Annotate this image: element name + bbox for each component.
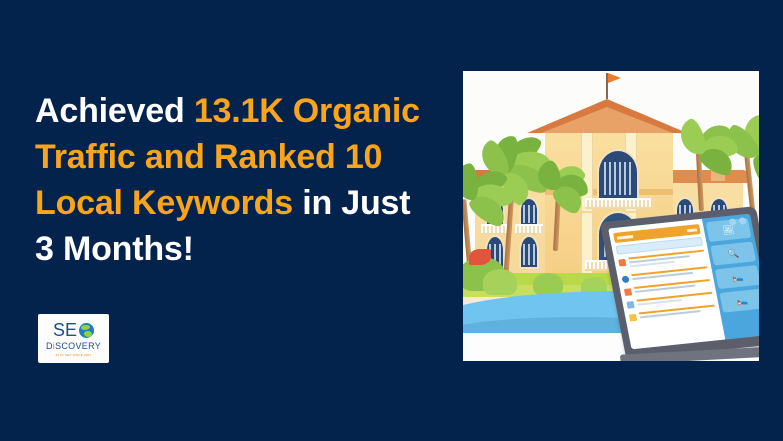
logo-subbrand: DiSCOVERY: [46, 341, 101, 351]
search-icon[interactable]: 🔍: [710, 242, 756, 266]
status-dot-icon: [738, 217, 746, 225]
logo-wordmark-row: SE: [53, 321, 94, 340]
window-arch: [519, 235, 539, 269]
globe-icon: [79, 323, 94, 338]
right-wing-roof: [661, 170, 747, 183]
bed-icon[interactable]: 🛌: [719, 289, 759, 313]
headline-block: Achieved 13.1K Organic Traffic and Ranke…: [35, 88, 435, 272]
headline-part1: Achieved: [35, 92, 194, 130]
logo-subbrand-post: SCOVERY: [55, 341, 101, 351]
main-arched-window: [597, 149, 639, 201]
balcony-railing: [515, 224, 543, 235]
tablet-device[interactable]: 🖼 🔍 🛌 🛌: [600, 206, 759, 360]
flower-shrub: [469, 249, 491, 265]
status-dot-icon: [728, 218, 736, 226]
list-item-icon: [621, 276, 629, 284]
illustration-panel: 🖼 🔍 🛌 🛌: [463, 71, 759, 361]
roof-pediment-inner: [541, 107, 673, 133]
bed-icon[interactable]: 🛌: [715, 265, 759, 289]
logo-subbrand-pre: D: [46, 341, 53, 351]
logo-tagline: #1 IN SEO SINCE 2007: [56, 353, 92, 358]
list-item-text: [639, 305, 716, 321]
list-item-icon: [626, 301, 634, 309]
list-item-icon: [629, 314, 637, 322]
logo-brand-text: SE: [53, 321, 77, 339]
promo-banner: Achieved 13.1K Organic Traffic and Ranke…: [0, 0, 783, 441]
list-item-icon: [618, 259, 626, 267]
shrub: [533, 273, 563, 295]
list-item-icon: [624, 288, 632, 296]
tablet-screen[interactable]: 🖼 🔍 🛌 🛌: [608, 214, 759, 350]
balcony-railing: [585, 198, 651, 209]
resort-illustration: 🖼 🔍 🛌 🛌: [463, 71, 759, 361]
shrub: [483, 269, 517, 295]
page-title: Achieved 13.1K Organic Traffic and Ranke…: [35, 88, 435, 272]
list-item-text: [628, 250, 706, 270]
seo-discovery-logo[interactable]: SE DiSCOVERY #1 IN SEO SINCE 2007: [38, 314, 109, 363]
orange-flag: [608, 73, 621, 83]
